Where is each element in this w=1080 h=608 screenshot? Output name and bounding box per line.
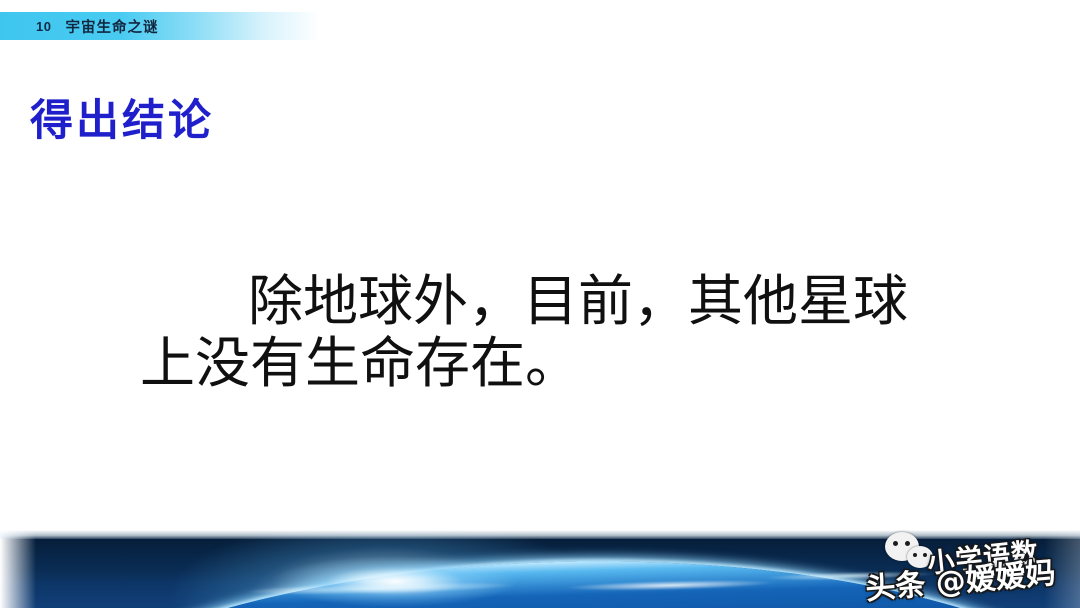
footer-banner: 小学语数 头条 @嫒嫒妈 [0, 530, 1080, 608]
body-paragraph: 除地球外，目前，其他星球上没有生命存在。 [140, 271, 930, 394]
slide-canvas: 10 宇宙生命之谜 得出结论 除地球外，目前，其他星球上没有生命存在。 小学语数… [0, 0, 1080, 608]
lesson-title: 宇宙生命之谜 [65, 16, 158, 37]
watermark: 小学语数 头条 @嫒嫒妈 [859, 530, 1074, 600]
bubble-small-eye-left-icon [913, 553, 917, 557]
section-title: 得出结论 [30, 97, 214, 145]
lesson-number: 10 [36, 19, 51, 34]
bubble-large-eye-right-icon [905, 541, 910, 546]
bubble-large-eye-left-icon [893, 541, 898, 546]
slide-header-bar: 10 宇宙生命之谜 [0, 12, 320, 40]
sun-glow [230, 538, 560, 608]
footer-left-fade [0, 530, 36, 608]
